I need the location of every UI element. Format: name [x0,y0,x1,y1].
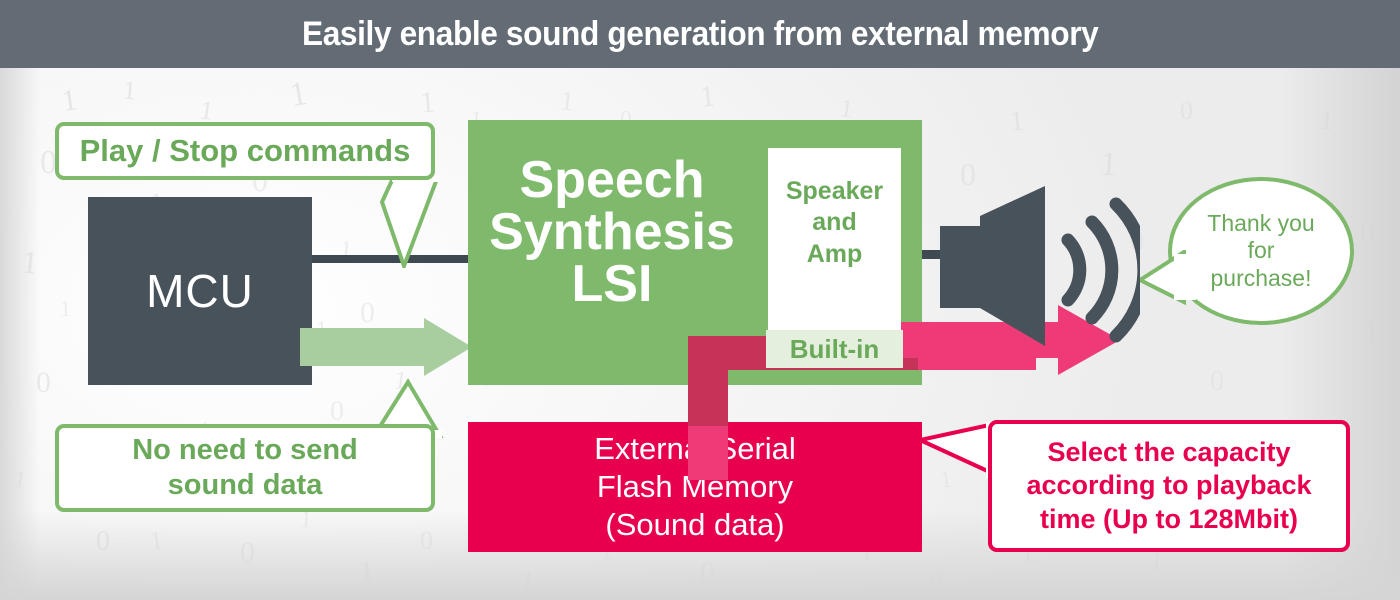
speaker-amp-line-3: Amp [786,239,883,270]
thank-you-line-3: purchase! [1207,265,1314,293]
capacity-line-2: according to playback [1026,469,1311,502]
speaker-amp-line-2: and [786,207,883,238]
background-digit: 1 [838,95,854,123]
no-send-line-2: sound data [132,468,358,503]
capacity-line-3: time (Up to 128Mbit) [1026,503,1311,536]
memory-line-3: (Sound data) [594,506,796,544]
background-digit: 1 [559,87,576,116]
built-in-badge: Built-in [766,330,903,368]
no-send-line-1: No need to send [132,433,358,468]
callout-select-capacity: Select the capacity according to playbac… [988,420,1350,552]
speaker-amp-label: Speaker and Amp [786,176,883,270]
background-digit: 0 [1180,98,1193,124]
speaker-icon [940,178,1140,351]
thank-you-bubble-tail [1140,250,1200,311]
mcu-block: MCU [88,197,312,385]
speaker-amp-line-1: Speaker [786,176,883,207]
play-stop-callout-tail [330,176,460,273]
header-bar: Easily enable sound generation from exte… [0,0,1400,68]
sound-wave-icon [1068,204,1140,336]
lsi-line-2: Synthesis [482,206,742,258]
mcu-label: MCU [146,264,254,318]
background-digit: 1 [60,298,71,320]
background-digit: 1 [122,78,137,105]
background-digit: 1 [60,85,79,117]
thank-you-line-1: Thank you [1207,210,1314,238]
background-digit: 1 [1009,107,1026,136]
diagram-canvas: 1101110110110110110111010110101101101101… [0,0,1400,600]
background-digit: 0 [1210,368,1224,396]
thank-you-text: Thank you for purchase! [1207,210,1314,293]
callout-play-stop-text: Play / Stop commands [80,133,411,169]
callout-no-send-text: No need to send sound data [132,433,358,503]
lsi-label: Speech Synthesis LSI [482,154,742,310]
callout-play-stop-commands: Play / Stop commands [55,122,435,180]
lsi-line-1: Speech [482,154,742,206]
callout-no-need-to-send: No need to send sound data [55,424,435,512]
thank-you-line-2: for [1207,237,1314,265]
background-digit: 1 [419,88,436,119]
background-digit: 1 [198,97,214,125]
built-in-label: Built-in [790,334,880,365]
callout-capacity-text: Select the capacity according to playbac… [1026,436,1311,536]
page-title: Easily enable sound generation from exte… [302,15,1098,54]
background-digit: 1 [699,81,717,112]
background-digit: 1 [287,77,310,113]
capacity-line-1: Select the capacity [1026,436,1311,469]
